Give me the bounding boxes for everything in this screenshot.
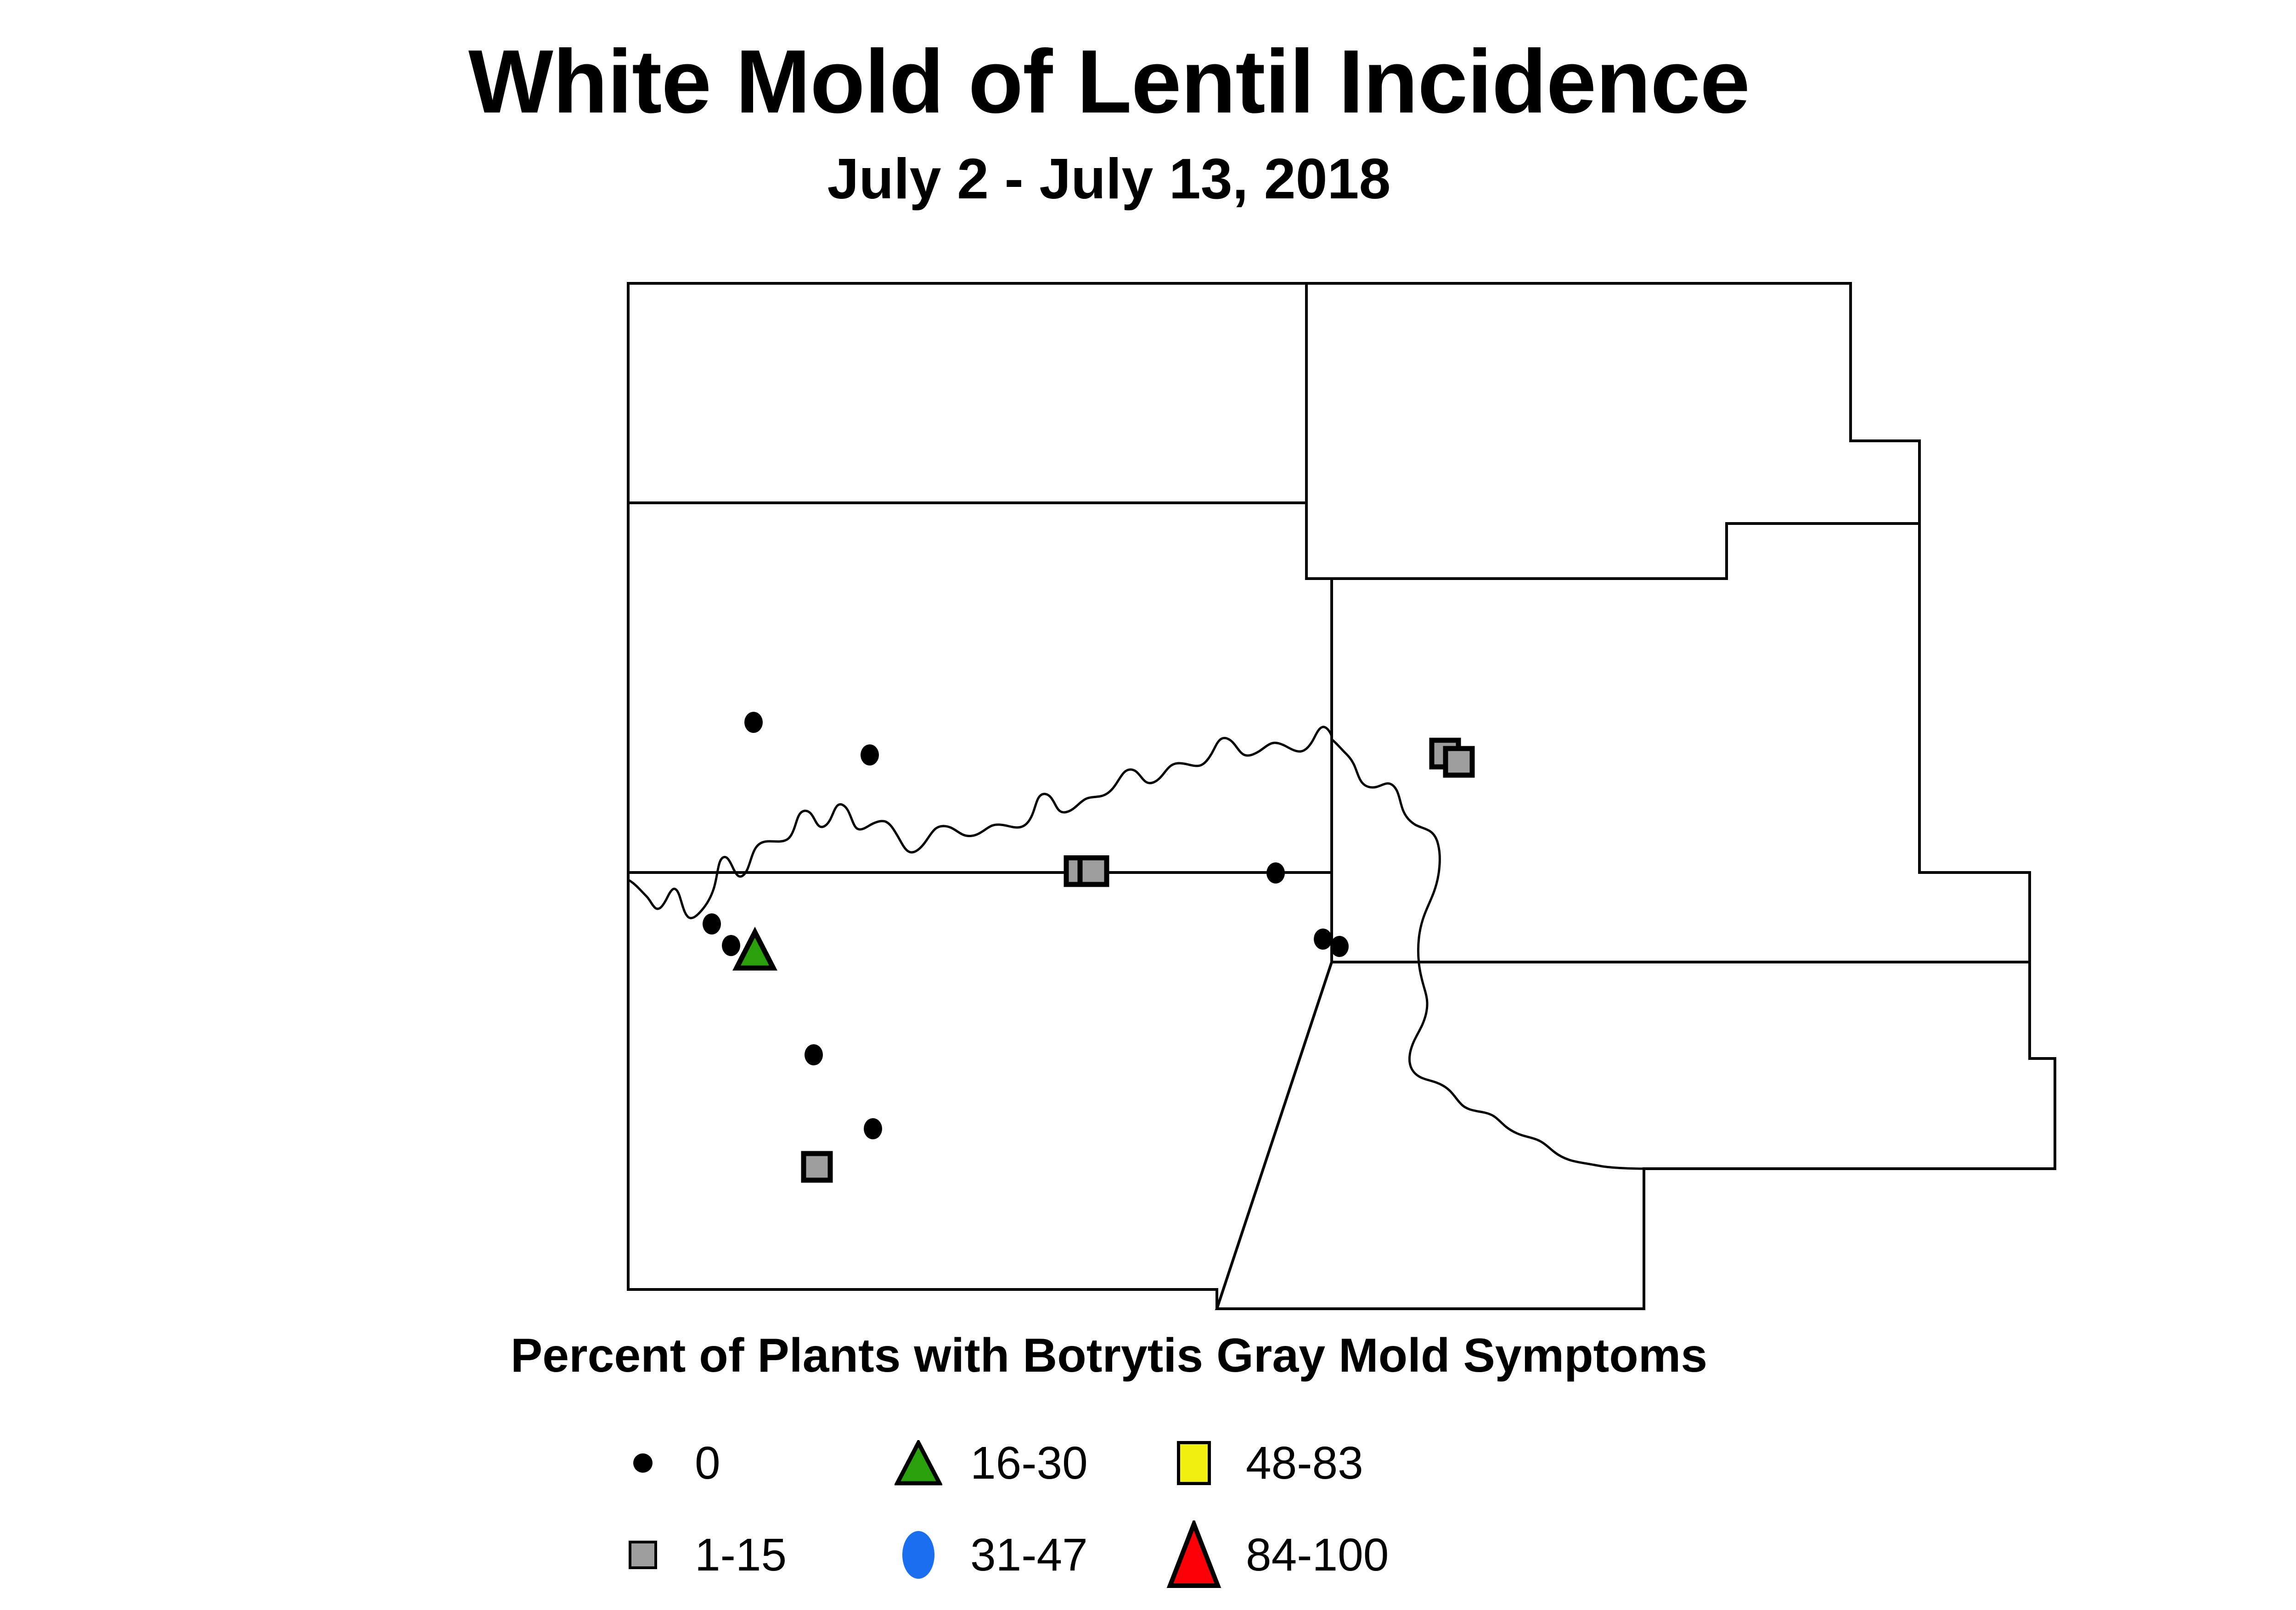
legend-item-16-30[interactable]: 16-30 <box>879 1417 1155 1509</box>
marker-gray-square <box>1080 858 1107 884</box>
marker-black-dot <box>864 1118 882 1139</box>
legend-row-top: 0 16-30 48-83 <box>604 1417 1706 1509</box>
marker-black-dot <box>744 712 763 733</box>
marker-black-dot <box>1266 862 1285 884</box>
boundary-west-central-county <box>628 503 1332 873</box>
blue-circle-icon <box>879 1509 957 1601</box>
map-canvas <box>0 248 2296 1332</box>
legend-entries: 0 16-30 48-83 <box>604 1417 1706 1601</box>
legend-item-label: 84-100 <box>1246 1532 1389 1578</box>
marker-black-dot <box>805 1044 823 1065</box>
legend-item-label: 1-15 <box>695 1532 787 1578</box>
marker-green-triangle <box>737 932 773 968</box>
legend: Percent of Plants with Botrytis Gray Mol… <box>0 1332 2218 1601</box>
green-triangle-icon <box>879 1417 957 1509</box>
legend-item-84-100[interactable]: 84-100 <box>1155 1509 1430 1601</box>
map-figure: White Mold of Lentil Incidence July 2 - … <box>0 0 2296 1610</box>
boundary-river-line <box>628 727 1332 918</box>
boundary-nw-county <box>628 283 1306 503</box>
red-triangle-icon <box>1155 1509 1233 1601</box>
legend-item-label: 0 <box>695 1440 720 1486</box>
page-title: White Mold of Lentil Incidence <box>0 37 2218 127</box>
marker-black-dot <box>861 744 879 766</box>
boundary-river-line-east <box>1332 739 1644 1169</box>
boundary-ne-county <box>1306 283 1919 579</box>
legend-item-48-83[interactable]: 48-83 <box>1155 1417 1430 1509</box>
legend-title: Percent of Plants with Botrytis Gray Mol… <box>0 1332 2218 1379</box>
legend-row-bottom: 1-15 31-47 84-10 <box>604 1509 1706 1601</box>
legend-item-label: 31-47 <box>970 1532 1088 1578</box>
black-circle-icon <box>604 1417 682 1509</box>
legend-item-label: 48-83 <box>1246 1440 1363 1486</box>
legend-item-31-47[interactable]: 31-47 <box>879 1509 1155 1601</box>
map-svg <box>0 248 2296 1332</box>
marker-black-dot <box>1330 936 1349 957</box>
yellow-square-icon <box>1155 1417 1233 1509</box>
legend-item-1-15[interactable]: 1-15 <box>604 1509 879 1601</box>
data-point-markers <box>703 712 1472 1180</box>
page-subtitle: July 2 - July 13, 2018 <box>0 151 2218 208</box>
gray-square-icon <box>604 1509 682 1601</box>
marker-gray-square <box>1446 749 1472 775</box>
legend-item-0[interactable]: 0 <box>604 1417 879 1509</box>
marker-black-dot <box>722 935 740 956</box>
legend-item-label: 16-30 <box>970 1440 1088 1486</box>
marker-black-dot <box>703 913 721 934</box>
boundary-southeast-county <box>1217 962 2055 1309</box>
marker-gray-square <box>804 1154 830 1180</box>
boundary-southwest-county <box>628 873 1217 1309</box>
marker-black-dot <box>1314 929 1332 950</box>
county-boundaries <box>628 283 2055 1309</box>
title-block: White Mold of Lentil Incidence July 2 - … <box>0 37 2218 208</box>
